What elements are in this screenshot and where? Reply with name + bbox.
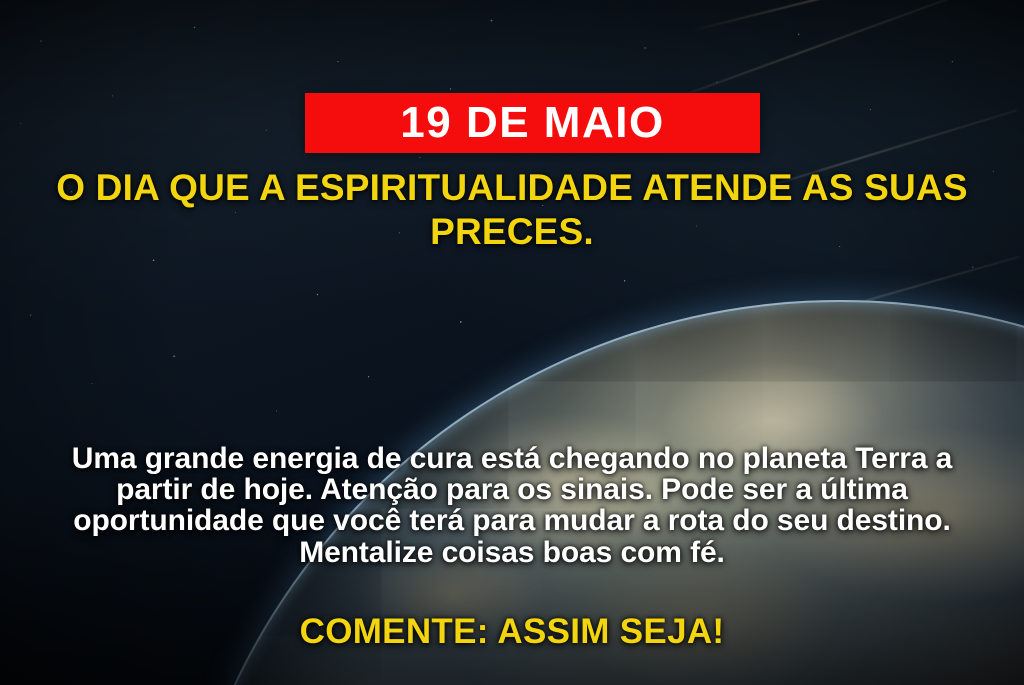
- date-badge-label: 19 DE MAIO: [400, 101, 664, 145]
- date-badge: 19 DE MAIO: [305, 93, 760, 153]
- poster-content: 19 DE MAIO O DIA QUE A ESPIRITUALIDADE A…: [0, 0, 1024, 685]
- call-to-action-text: COMENTE: ASSIM SEJA!: [0, 613, 1024, 652]
- headline-text: O DIA QUE A ESPIRITUALIDADE ATENDE AS SU…: [0, 166, 1024, 253]
- body-paragraph: Uma grande energia de cura está chegando…: [0, 443, 1024, 568]
- poster-canvas: 19 DE MAIO O DIA QUE A ESPIRITUALIDADE A…: [0, 0, 1024, 685]
